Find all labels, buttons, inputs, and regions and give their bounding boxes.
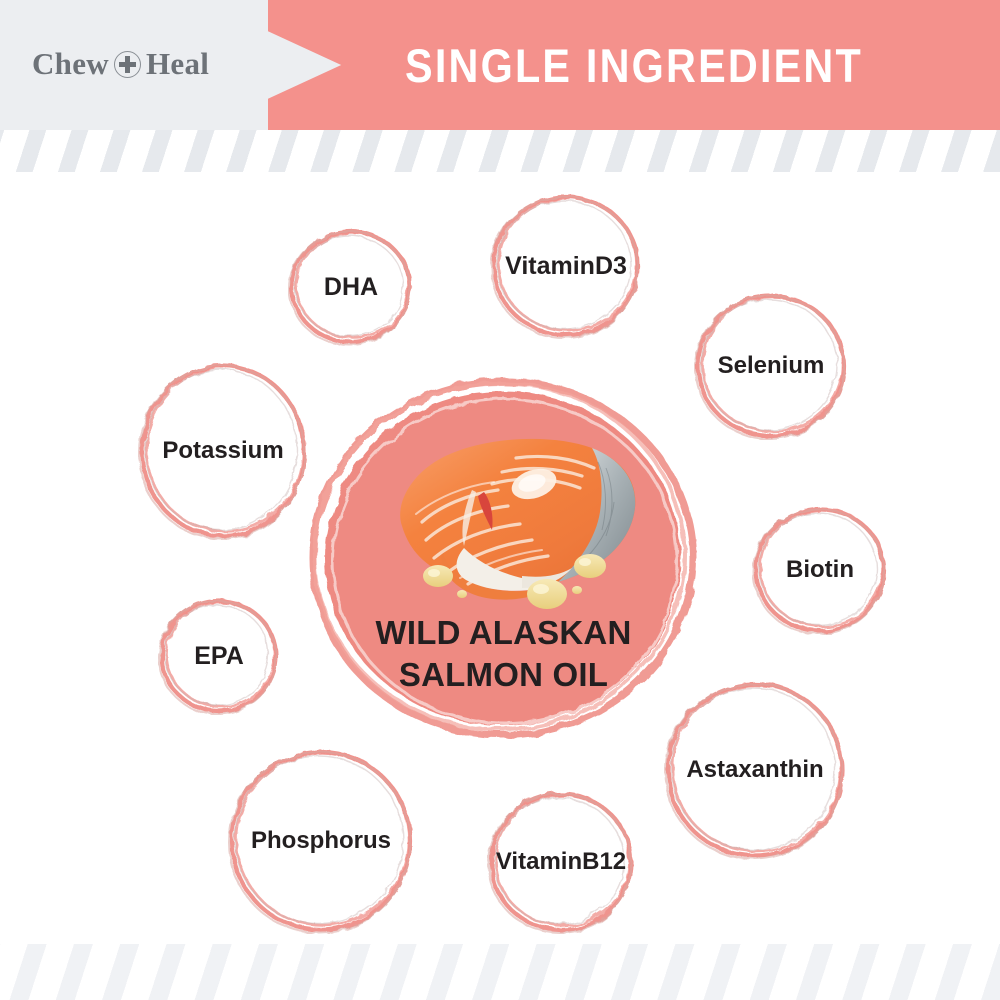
- logo-text-chew: Chew: [32, 46, 109, 82]
- logo-text-heal: Heal: [146, 46, 209, 82]
- nutrient-label-astaxanthin: Astaxanthin: [664, 680, 846, 860]
- nutrient-bubble-astaxanthin: Astaxanthin: [664, 680, 846, 860]
- nutrient-label-dha: DHA: [288, 228, 414, 346]
- salmon-steak-image: [372, 418, 657, 623]
- page-title: SINGLE INGREDIENT: [312, 0, 956, 130]
- nutrient-bubble-vitamin-d3: VitaminD3: [490, 193, 642, 339]
- nutrient-label-potassium: Potassium: [138, 362, 308, 540]
- brand-logo: Chew Heal: [32, 46, 209, 82]
- infographic-page: SINGLE INGREDIENT Chew Heal: [0, 0, 1000, 1000]
- nutrient-bubble-phosphorus: Phosphorus: [228, 748, 414, 934]
- stripe-decoration-top: [0, 130, 1000, 172]
- nutrient-bubble-dha: DHA: [288, 228, 414, 346]
- product-name-line1: WILD ALASKAN: [307, 612, 700, 654]
- nutrient-label-selenium: Selenium: [694, 292, 848, 440]
- product-name: WILD ALASKAN SALMON OIL: [307, 612, 700, 696]
- nutrient-bubble-vitamin-b12: VitaminB12: [487, 790, 635, 934]
- nutrient-label-biotin: Biotin: [752, 505, 888, 635]
- product-name-line2: SALMON OIL: [307, 654, 700, 696]
- nutrient-bubble-biotin: Biotin: [752, 505, 888, 635]
- nutrient-label-vitamin-d3: VitaminD3: [490, 193, 642, 339]
- stripe-decoration-bottom: [0, 944, 1000, 1000]
- nutrient-label-phosphorus: Phosphorus: [228, 748, 414, 934]
- nutrient-bubble-potassium: Potassium: [138, 362, 308, 540]
- nutrient-bubble-selenium: Selenium: [694, 292, 848, 440]
- nutrient-label-epa: EPA: [158, 597, 280, 715]
- nutrient-bubble-epa: EPA: [158, 597, 280, 715]
- plus-in-circle-icon: [114, 51, 141, 78]
- nutrient-label-vitamin-b12: VitaminB12: [487, 790, 635, 934]
